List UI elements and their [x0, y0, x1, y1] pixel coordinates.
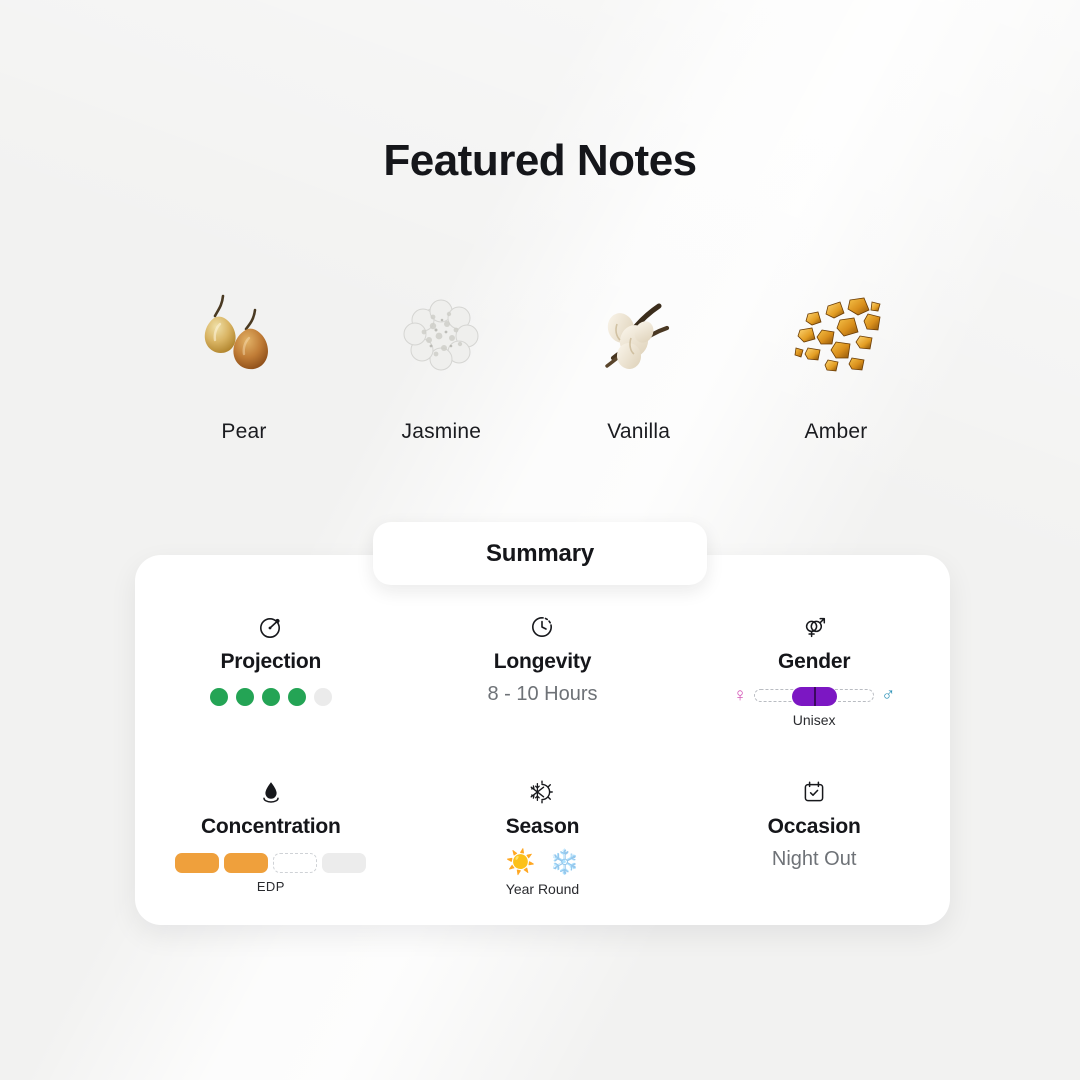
page-root: Featured Notes — [0, 0, 1080, 1080]
gender-track[interactable] — [754, 689, 874, 702]
note-item-amber[interactable]: Amber — [747, 282, 925, 444]
cell-title: Concentration — [201, 815, 341, 839]
concentration-bar — [273, 853, 317, 873]
male-symbol-icon: ♂ — [881, 686, 895, 705]
concentration-bar — [322, 853, 366, 873]
season-caption: Year Round — [506, 881, 579, 897]
projection-dot — [236, 688, 254, 706]
gender-caption: Unisex — [793, 712, 836, 728]
cell-title: Occasion — [768, 815, 861, 839]
gauge-icon — [258, 613, 284, 641]
pear-image — [192, 282, 296, 390]
projection-rating — [210, 688, 332, 706]
gender-interlocked-icon — [801, 613, 827, 641]
sun-snowflake-icon — [529, 778, 555, 806]
note-label: Jasmine — [402, 420, 482, 444]
longevity-value: 8 - 10 Hours — [487, 683, 597, 706]
cell-title: Season — [506, 815, 580, 839]
concentration-meter: EDP — [175, 853, 366, 894]
summary-cell-concentration: Concentration EDP — [135, 760, 407, 925]
summary-grid: Projection Longevity 8 - 10 Hours — [135, 595, 950, 925]
summary-cell-projection: Projection — [135, 595, 407, 760]
summary-cell-gender: Gender ♀ ♂ Unisex — [678, 595, 950, 760]
sun-emoji-icon: ☀️ — [506, 851, 536, 875]
note-label: Amber — [805, 420, 868, 444]
summary-cell-occasion: Occasion Night Out — [678, 760, 950, 925]
amber-image — [784, 282, 888, 390]
female-symbol-icon: ♀ — [733, 686, 747, 705]
cell-title: Gender — [778, 650, 850, 674]
vanilla-image — [587, 282, 691, 390]
page-title: Featured Notes — [0, 136, 1080, 186]
calendar-check-icon — [801, 778, 827, 806]
season-symbols: ☀️ ❄️ — [506, 851, 580, 875]
projection-dot — [314, 688, 332, 706]
projection-dot — [210, 688, 228, 706]
concentration-bar — [175, 853, 219, 873]
snowflake-emoji-icon: ❄️ — [549, 851, 579, 875]
concentration-bars — [175, 853, 366, 873]
gender-slider[interactable]: ♀ ♂ Unisex — [733, 686, 896, 728]
summary-pill-label: Summary — [486, 540, 594, 568]
summary-pill: Summary — [373, 522, 707, 585]
cell-title: Longevity — [494, 650, 591, 674]
gender-slider-row: ♀ ♂ — [733, 686, 896, 705]
concentration-caption: EDP — [257, 879, 285, 894]
projection-dot — [288, 688, 306, 706]
note-item-vanilla[interactable]: Vanilla — [550, 282, 728, 444]
featured-notes-list: Pear — [155, 282, 925, 444]
gender-center-notch — [814, 687, 816, 706]
concentration-bar — [224, 853, 268, 873]
projection-dot — [262, 688, 280, 706]
note-item-jasmine[interactable]: Jasmine — [352, 282, 530, 444]
summary-cell-season: Season ☀️ ❄️ Year Round — [407, 760, 679, 925]
season-indicator: ☀️ ❄️ Year Round — [506, 851, 580, 897]
droplet-icon — [258, 778, 284, 806]
jasmine-image — [389, 282, 493, 390]
occasion-value: Night Out — [772, 848, 856, 871]
note-label: Vanilla — [607, 420, 670, 444]
cell-title: Projection — [220, 650, 321, 674]
summary-cell-longevity: Longevity 8 - 10 Hours — [407, 595, 679, 760]
note-item-pear[interactable]: Pear — [155, 282, 333, 444]
note-label: Pear — [221, 420, 266, 444]
clock-icon — [529, 613, 555, 641]
